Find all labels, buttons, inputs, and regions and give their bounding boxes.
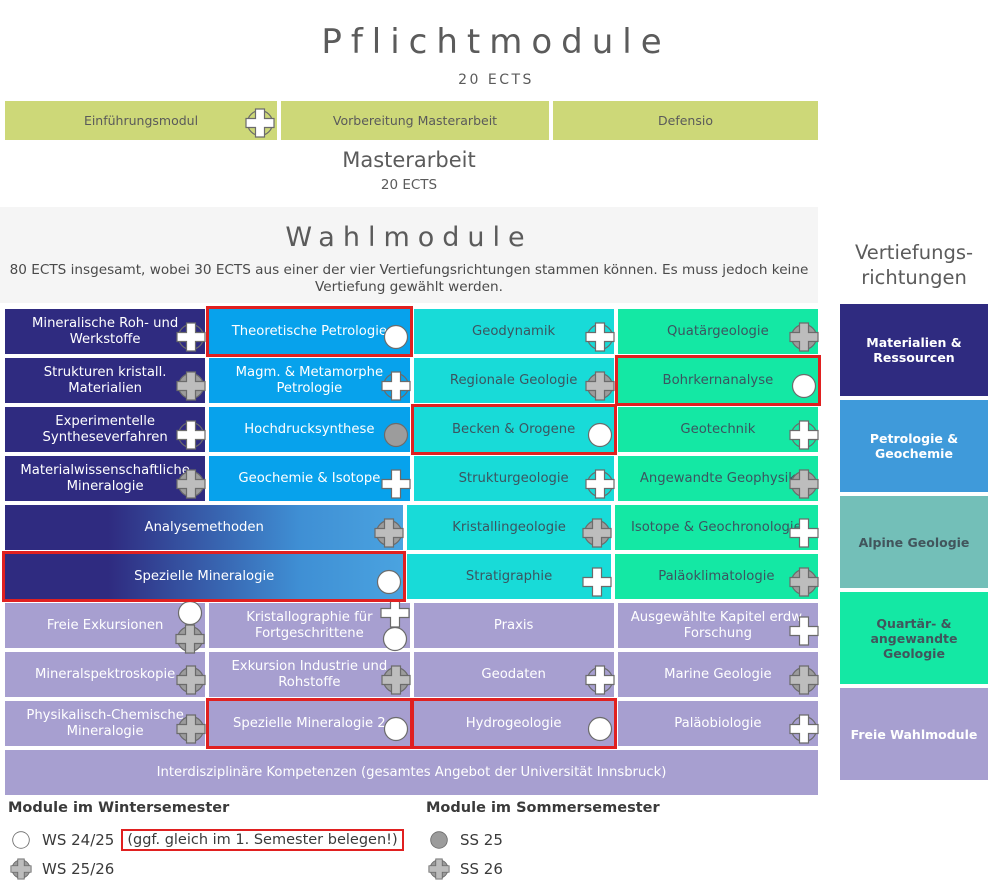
pflicht-label: Defensio (658, 113, 713, 128)
module-row: Materialwissenschaftliche MineralogieGeo… (5, 456, 818, 501)
legend-winter: Module im Wintersemester WS 24/25 (ggf. … (8, 800, 404, 883)
sidebar-item-4[interactable]: Freie Wahlmodule (840, 688, 988, 780)
plus-gray-icon (783, 466, 825, 508)
module-cell[interactable]: Mineralische Roh- und Werkstoffe (5, 309, 205, 354)
module-row: AnalysemethodenKristallingeologieIsotope… (5, 505, 818, 550)
pflicht-cell-einfuehrungsmodul[interactable]: Einführungsmodul (5, 101, 277, 140)
sidebar-title: Vertiefungs-richtungen (840, 240, 988, 290)
legend-note: (ggf. gleich im 1. Semester belegen!) (121, 829, 403, 851)
module-label: Quatärgeologie (667, 324, 769, 340)
page-title: Pflichtmodule (0, 0, 992, 62)
module-cell[interactable]: Strukturen kristall. Materialien (5, 358, 205, 403)
module-label: Geodaten (481, 667, 546, 683)
sidebar-item-3[interactable]: Quartär- & angewandte Geologie (840, 592, 988, 684)
plus-gray-icon (368, 515, 410, 557)
plus-plain-icon (783, 515, 825, 557)
circle-white-icon (8, 827, 38, 853)
module-label: Hydrogeologie (466, 716, 562, 732)
module-label: Angewandte Geophysik (640, 471, 796, 487)
module-label: Becken & Orogene (452, 422, 575, 438)
module-cell[interactable]: Quatärgeologie (618, 309, 818, 354)
module-row: Spezielle MineralogieStratigraphiePaläok… (5, 554, 818, 599)
plus-gray-icon (426, 856, 456, 882)
module-grid: Mineralische Roh- und WerkstoffeTheoreti… (5, 309, 818, 799)
module-label: Isotope & Geochronologie (631, 520, 802, 536)
module-cell[interactable]: Geodaten (414, 652, 614, 697)
module-cell[interactable]: Mineralspektroskopie (5, 652, 205, 697)
pflicht-cell-defensio[interactable]: Defensio (553, 101, 818, 140)
plus-white-icon (579, 662, 621, 704)
plus-white-icon (579, 319, 621, 361)
sidebar-item-label: Quartär- & angewandte Geologie (850, 616, 978, 661)
module-label: Spezielle Mineralogie (134, 569, 274, 585)
module-cell[interactable]: Magm. & Metamorphe Petrologie (209, 358, 409, 403)
marker-plus-white (242, 105, 284, 147)
plus-gray-icon (170, 711, 212, 753)
module-cell[interactable]: Theoretische Petrologie (209, 309, 409, 354)
plus-gray-icon (170, 466, 212, 508)
module-row: Physikalisch-Chemische MineralogieSpezie… (5, 701, 818, 746)
legend-summer: Module im Sommersemester SS 25 SS 26 (426, 800, 660, 883)
page-subtitle: 20 ECTS (0, 72, 992, 88)
plus-white-circle-white-icon (374, 599, 416, 657)
module-row: Freie ExkursionenKristallographie für Fo… (5, 603, 818, 648)
module-label: Bohrkernanalyse (663, 373, 774, 389)
module-cell[interactable]: Geodynamik (414, 309, 614, 354)
sidebar-item-label: Alpine Geologie (859, 535, 970, 550)
plus-gray-icon (576, 515, 618, 557)
plus-gray-icon (375, 662, 417, 704)
module-cell[interactable]: Interdisziplinäre Kompetenzen (gesamtes … (5, 750, 818, 795)
legend-item: SS 25 (426, 825, 660, 854)
module-cell[interactable]: Kristallographie für Fortgeschrittene (209, 603, 409, 648)
circle-white-icon (579, 711, 621, 753)
module-cell[interactable]: Geotechnik (618, 407, 818, 452)
module-label: Stratigraphie (466, 569, 552, 585)
pflichtmodule-row: Einführungsmodul Vorbereitung Masterarbe… (5, 101, 818, 140)
plus-white-icon (783, 711, 825, 753)
sidebar-item-2[interactable]: Alpine Geologie (840, 496, 988, 588)
legend-winter-heading: Module im Wintersemester (8, 800, 404, 816)
sidebar-item-label: Materialien & Ressourcen (850, 335, 978, 365)
wahlmodule-description: 80 ECTS insgesamt, wobei 30 ECTS aus ein… (0, 253, 818, 296)
module-label: Regionale Geologie (450, 373, 577, 389)
module-cell[interactable]: Experimentelle Syntheseverfahren (5, 407, 205, 452)
module-label: Kristallingeologie (452, 520, 566, 536)
wahlmodule-title: Wahlmodule (0, 207, 818, 253)
module-cell[interactable]: Praxis (414, 603, 614, 648)
plus-gray-icon (783, 319, 825, 361)
legend-label: WS 25/26 (42, 860, 114, 878)
plus-white-icon (170, 417, 212, 459)
module-label: Analysemethoden (145, 520, 264, 536)
module-cell[interactable]: Physikalisch-Chemische Mineralogie (5, 701, 205, 746)
legend-summer-heading: Module im Sommersemester (426, 800, 660, 816)
plus-gray-icon (170, 662, 212, 704)
module-label: Geochemie & Isotope (238, 471, 380, 487)
module-cell[interactable]: Becken & Orogene (414, 407, 614, 452)
module-label: Strukturgeologie (459, 471, 569, 487)
module-row: Mineralische Roh- und WerkstoffeTheoreti… (5, 309, 818, 354)
module-label: Theoretische Petrologie (232, 324, 387, 340)
module-label: Mineralspektroskopie (35, 667, 175, 683)
plus-gray-icon (783, 662, 825, 704)
pflicht-cell-vorbereitung-masterarbeit[interactable]: Vorbereitung Masterarbeit (281, 101, 549, 140)
plus-gray-icon (170, 368, 212, 410)
module-cell[interactable]: Hydrogeologie (414, 701, 614, 746)
module-cell[interactable]: Stratigraphie (407, 554, 610, 599)
module-label: Paläoklimatologie (658, 569, 774, 585)
plus-white-icon (579, 466, 621, 508)
module-label: Freie Exkursionen (47, 618, 163, 634)
module-cell[interactable]: Hochdrucksynthese (209, 407, 409, 452)
module-label: Hochdrucksynthese (244, 422, 374, 438)
circle-white-icon (375, 711, 417, 753)
masterarbeit-title: Masterarbeit (0, 148, 818, 172)
module-cell[interactable]: Strukturgeologie (414, 456, 614, 501)
plus-gray-icon (783, 564, 825, 606)
module-label: Paläobiologie (674, 716, 761, 732)
module-cell[interactable]: Geochemie & Isotope (209, 456, 409, 501)
module-cell[interactable]: Isotope & Geochronologie (615, 505, 818, 550)
legend-item: WS 25/26 (8, 854, 404, 883)
plus-gray-icon (8, 856, 38, 882)
pflicht-label: Vorbereitung Masterarbeit (333, 113, 497, 128)
module-cell[interactable]: Regionale Geologie (414, 358, 614, 403)
circle-gray-icon (426, 827, 456, 853)
circle-white-plus-gray-icon (169, 599, 211, 657)
pflicht-label: Einführungsmodul (84, 113, 198, 128)
module-cell[interactable]: Kristallingeologie (407, 505, 610, 550)
masterarbeit-ects: 20 ECTS (0, 177, 818, 193)
plus-white-icon (783, 417, 825, 459)
plus-white-icon (375, 368, 417, 410)
module-cell[interactable]: Paläobiologie (618, 701, 818, 746)
legend-label: SS 25 (460, 831, 503, 849)
module-row: Strukturen kristall. MaterialienMagm. & … (5, 358, 818, 403)
circle-white-icon (783, 368, 825, 410)
module-cell[interactable]: Materialwissenschaftliche Mineralogie (5, 456, 205, 501)
module-label: Marine Geologie (664, 667, 772, 683)
circle-white-icon (579, 417, 621, 459)
plus-plain-icon (783, 613, 825, 655)
module-label: Praxis (494, 618, 534, 634)
sidebar-item-label: Petrologie & Geochemie (850, 431, 978, 461)
module-cell[interactable]: Freie Exkursionen (5, 603, 205, 648)
plus-plain-icon (576, 564, 618, 606)
module-cell[interactable]: Analysemethoden (5, 505, 403, 550)
module-label: Geodynamik (472, 324, 555, 340)
sidebar-item-1[interactable]: Petrologie & Geochemie (840, 400, 988, 492)
circle-gray-icon (375, 417, 417, 459)
module-row: Interdisziplinäre Kompetenzen (gesamtes … (5, 750, 818, 795)
module-label: Spezielle Mineralogie 2 (233, 716, 386, 732)
legend-label: SS 26 (460, 860, 503, 878)
module-cell[interactable]: Marine Geologie (618, 652, 818, 697)
module-label: Interdisziplinäre Kompetenzen (gesamtes … (157, 765, 667, 781)
plus-gray-icon (579, 368, 621, 410)
legend-item: WS 24/25 (ggf. gleich im 1. Semester bel… (8, 825, 404, 854)
vertiefungsrichtungen-sidebar: Vertiefungs-richtungen Materialien & Res… (840, 240, 988, 784)
plus-plain-icon (375, 466, 417, 508)
module-label: Geotechnik (680, 422, 755, 438)
legend-label: WS 24/25 (42, 831, 114, 849)
module-row: Experimentelle SyntheseverfahrenHochdruc… (5, 407, 818, 452)
module-row: MineralspektroskopieExkursion Industrie … (5, 652, 818, 697)
module-cell[interactable]: Ausgewählte Kapitel erdw. Forschung (618, 603, 818, 648)
legend-item: SS 26 (426, 854, 660, 883)
sidebar-item-0[interactable]: Materialien & Ressourcen (840, 304, 988, 396)
module-cell[interactable]: Spezielle Mineralogie 2 (209, 701, 409, 746)
module-cell[interactable]: Exkursion Industrie und Rohstoffe (209, 652, 409, 697)
wahlmodule-band: Wahlmodule 80 ECTS insgesamt, wobei 30 E… (0, 207, 818, 303)
module-cell[interactable]: Spezielle Mineralogie (5, 554, 403, 599)
module-cell[interactable]: Angewandte Geophysik (618, 456, 818, 501)
module-cell[interactable]: Paläoklimatologie (615, 554, 818, 599)
sidebar-item-label: Freie Wahlmodule (851, 727, 978, 742)
module-cell[interactable]: Bohrkernanalyse (618, 358, 818, 403)
circle-white-icon (375, 319, 417, 361)
plus-white-icon (170, 319, 212, 361)
